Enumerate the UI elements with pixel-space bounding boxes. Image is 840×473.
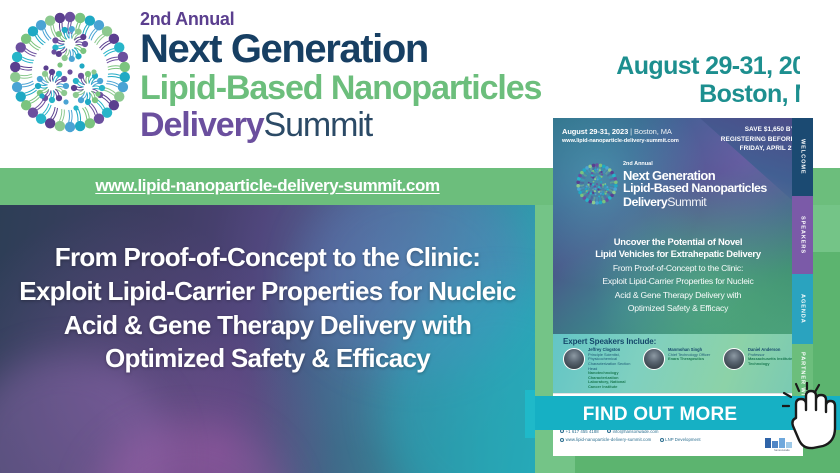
speaker-details: Daniel Anderson Professor Massachusetts … bbox=[748, 348, 798, 367]
brochure-subtitle-bold-2: Lipid Vehicles for Extrahepatic Delivery bbox=[559, 248, 797, 260]
contact-dept: LNP Development bbox=[665, 437, 701, 442]
contact-dept-item: LNP Development bbox=[660, 437, 701, 442]
title-line-3: DeliverySummit bbox=[140, 107, 560, 144]
speaker-org: Nanotechnology Characterization Laborato… bbox=[588, 371, 638, 389]
speaker-details: Jeffrey Clogston Principle Scientist, Ph… bbox=[588, 348, 638, 390]
speaker-details: Manmohan Singh Chief Technology Officer … bbox=[668, 348, 718, 362]
globe-icon bbox=[560, 438, 564, 442]
brochure-subtitle-line-4: Optimized Safety & Efficacy bbox=[559, 303, 797, 315]
brochure-location-text: | Boston, MA bbox=[628, 127, 672, 136]
annual-label: 2nd Annual bbox=[140, 10, 560, 28]
speaker-role: Principle Scientist, Physicochemical Cha… bbox=[588, 353, 638, 371]
speaker-avatar bbox=[643, 348, 665, 370]
title-line-1: Next Generation bbox=[140, 29, 560, 70]
contact-url-item: www.lipid-nanoparticle-delivery-summit.c… bbox=[560, 437, 651, 442]
speaker-card: Jeffrey Clogston Principle Scientist, Ph… bbox=[563, 348, 638, 390]
liposome-nanoparticle-icon bbox=[6, 8, 134, 136]
brochure-subtitle-bold-1: Uncover the Potential of Novel bbox=[559, 236, 797, 248]
brochure-liposome-nanoparticle-icon bbox=[575, 162, 619, 206]
hero-headline: From Proof-of-Concept to the Clinic: Exp… bbox=[18, 241, 517, 376]
brochure-url: www.lipid-nanoparticle-delivery-summit.c… bbox=[562, 138, 679, 144]
speaker-avatar bbox=[563, 348, 585, 370]
brochure-subtitle-line-1: From Proof-of-Concept to the Clinic: bbox=[559, 263, 797, 275]
banner-ad-root: 2nd Annual Next Generation Lipid-Based N… bbox=[0, 0, 840, 473]
tab-agenda[interactable]: AGENDA bbox=[792, 274, 813, 344]
brochure-date-text: August 29-31, 2023 bbox=[562, 127, 628, 136]
speaker-card: Daniel Anderson Professor Massachusetts … bbox=[723, 348, 798, 370]
hero-edge-accent bbox=[525, 390, 535, 438]
title-delivery: Delivery bbox=[140, 106, 264, 144]
brochure-early-bird-offer: SAVE $1,650 BY REGISTERING BEFORE FRIDAY… bbox=[721, 125, 795, 154]
offer-line-2: REGISTERING BEFORE bbox=[721, 135, 795, 145]
document-icon bbox=[660, 438, 664, 442]
brochure-date: August 29-31, 2023 | Boston, MA bbox=[562, 127, 672, 136]
brochure-logotype: 2nd Annual Next Generation Lipid-Based N… bbox=[623, 162, 767, 210]
title-summit: Summit bbox=[264, 106, 373, 144]
speaker-card: Manmohan Singh Chief Technology Officer … bbox=[643, 348, 718, 370]
brochure-subtitle-line-3: Acid & Gene Therapy Delivery with bbox=[559, 290, 797, 302]
speaker-org: Massachusetts Institute of Technology bbox=[748, 357, 798, 366]
offer-line-3: FRIDAY, APRIL 21 bbox=[721, 144, 795, 154]
speakers-heading: Expert Speakers Include: bbox=[563, 337, 656, 346]
brochure-title-line-2: Lipid-Based Nanoparticles bbox=[623, 182, 767, 196]
contact-url: www.lipid-nanoparticle-delivery-summit.c… bbox=[566, 437, 652, 442]
website-url-link[interactable]: www.lipid-nanoparticle-delivery-summit.c… bbox=[0, 176, 535, 196]
title-line-2: Lipid-Based Nanoparticles bbox=[140, 70, 560, 107]
tab-speakers[interactable]: SPEAKERS bbox=[792, 196, 813, 274]
speaker-org: Enara Therapeutics bbox=[668, 357, 718, 362]
hero-panel: From Proof-of-Concept to the Clinic: Exp… bbox=[0, 205, 535, 473]
brochure-title-line-3: DeliverySummit bbox=[623, 196, 767, 210]
brochure-title-line-1: Next Generation bbox=[623, 169, 767, 183]
offer-line-1: SAVE $1,650 BY bbox=[721, 125, 795, 135]
white-gap-right bbox=[800, 0, 840, 120]
speaker-avatar bbox=[723, 348, 745, 370]
brochure-subtitle: Uncover the Potential of Novel Lipid Veh… bbox=[559, 236, 797, 315]
brochure-title-delivery: Delivery bbox=[623, 195, 667, 209]
brochure-speakers-section: Expert Speakers Include: Jeffrey Clogsto… bbox=[553, 334, 803, 393]
tab-welcome[interactable]: WELCOME bbox=[792, 118, 813, 196]
find-out-more-label: FIND OUT MORE bbox=[535, 404, 785, 426]
brochure-side-tabs: WELCOME SPEAKERS AGENDA PARTNER WITH US … bbox=[792, 118, 813, 426]
brochure-cover: August 29-31, 2023 | Boston, MA www.lipi… bbox=[553, 118, 803, 334]
contact-info: +1 617 455 4188 info@hansonwade.com www.… bbox=[560, 428, 797, 444]
brochure-subtitle-line-2: Exploit Lipid-Carrier Properties for Nuc… bbox=[559, 276, 797, 288]
brochure-title-summit: Summit bbox=[667, 195, 706, 209]
event-logotype: 2nd Annual Next Generation Lipid-Based N… bbox=[140, 10, 560, 144]
brochure-annual-label: 2nd Annual bbox=[623, 162, 767, 168]
hand-click-cursor-icon bbox=[782, 382, 840, 454]
